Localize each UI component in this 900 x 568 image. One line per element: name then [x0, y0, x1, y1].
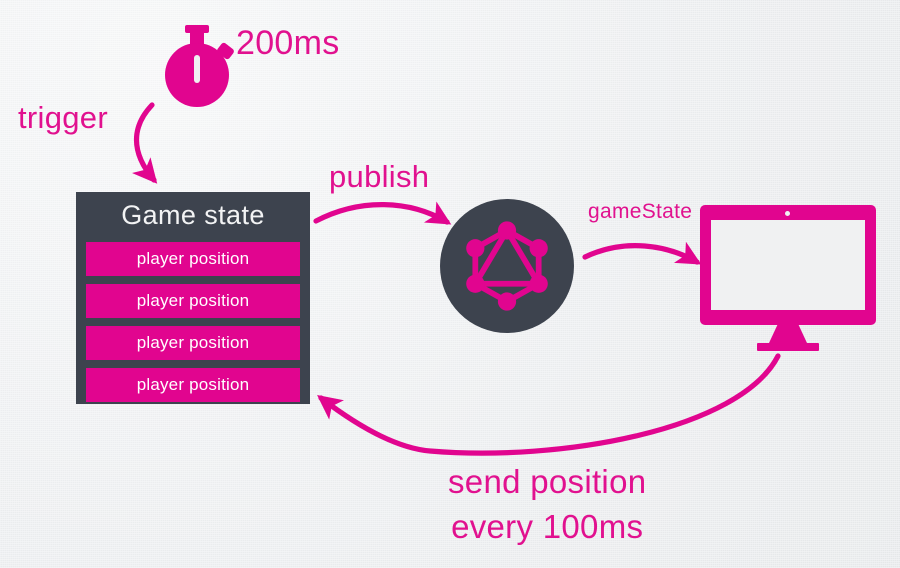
diagram-canvas: 200ms trigger Game state player position…: [0, 0, 900, 568]
publish-arrow-label: publish: [329, 159, 429, 195]
player-position-row: player position: [86, 284, 300, 318]
gamestate-arrow-label: gameState: [588, 200, 692, 224]
game-state-panel: Game state player position player positi…: [76, 192, 310, 404]
stopwatch-icon: [160, 25, 238, 107]
send-position-line-2: every 100ms: [448, 504, 646, 549]
player-position-row: player position: [86, 326, 300, 360]
monitor-camera-dot: [785, 211, 790, 216]
timer-interval-label: 200ms: [236, 24, 340, 63]
arrow-publish: [316, 205, 447, 222]
send-position-line-1: send position: [448, 463, 646, 500]
monitor-screen: [711, 220, 865, 310]
stopwatch-needle: [194, 55, 200, 83]
monitor-stand-base: [757, 343, 819, 351]
monitor-icon: [700, 205, 876, 350]
send-position-arrow-label: send position every 100ms: [448, 459, 646, 549]
game-state-title: Game state: [86, 196, 300, 234]
arrow-trigger: [137, 105, 155, 180]
monitor-stand-neck: [769, 325, 807, 343]
player-position-row: player position: [86, 242, 300, 276]
arrow-send-position: [321, 356, 778, 453]
graphql-logo-icon: [459, 218, 555, 314]
graphql-server-node: [440, 199, 574, 333]
monitor-frame: [700, 205, 876, 325]
player-position-row: player position: [86, 368, 300, 402]
arrow-gamestate: [585, 246, 697, 262]
trigger-arrow-label: trigger: [18, 100, 108, 136]
